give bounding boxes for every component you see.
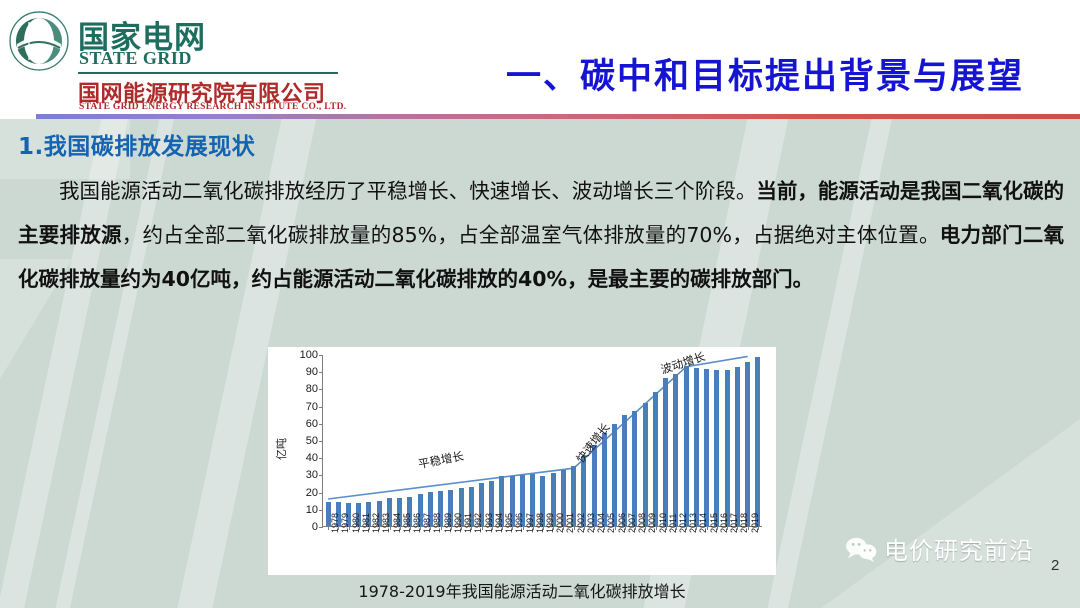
chart-y-tick-mark [319, 389, 323, 390]
chart-bar [632, 411, 637, 526]
paragraph-segment-1: 我国能源活动二氧化碳排放经历了平稳增长、快速增长、波动增长三个阶段。 [59, 179, 756, 203]
chart-y-tick-mark [319, 355, 323, 356]
chart-y-axis-ticks: 0102030405060708090100 [286, 355, 318, 527]
chart-plot-area [322, 355, 762, 527]
background-wedge-3 [820, 419, 1080, 608]
chart-bar [684, 366, 689, 526]
chart-y-tick-mark [319, 372, 323, 373]
chart-y-tick-label: 70 [290, 402, 318, 413]
chart-y-tick-mark [319, 441, 323, 442]
header-divider [36, 114, 1080, 119]
chart-x-tick-label: 2011 [669, 514, 678, 533]
chart-y-tick-mark [319, 493, 323, 494]
chart-x-tick-label: 2004 [597, 513, 606, 533]
chart-x-tick-label: 2017 [730, 513, 739, 533]
chart-y-tick-label: 100 [290, 350, 318, 361]
chart-x-tick-label: 1991 [464, 513, 473, 533]
chart-x-tick-label: 1993 [485, 513, 494, 533]
slide: 国家电网 STATE GRID 国网能源研究院有限公司 STATE GRID E… [0, 0, 1080, 608]
chart-y-tick-label: 30 [290, 470, 318, 481]
chart-x-tick-label: 1999 [546, 513, 555, 533]
slide-body: 1.我国碳排放发展现状 我国能源活动二氧化碳排放经历了平稳增长、快速增长、波动增… [0, 119, 1080, 608]
chart-x-tick-label: 2007 [628, 513, 637, 533]
section-heading: 1.我国碳排放发展现状 [18, 127, 255, 161]
chart-bar [643, 403, 648, 526]
chart-x-tick-label: 2014 [699, 513, 708, 533]
logo-divider [78, 72, 338, 74]
logo-title-en: STATE GRID [79, 48, 192, 69]
chart-y-tick-label: 40 [290, 453, 318, 464]
chart-bar [704, 369, 709, 526]
chart-x-tick-label: 2018 [740, 513, 749, 533]
chart-y-tick-mark [319, 458, 323, 459]
chart-x-tick-label: 1987 [423, 513, 432, 533]
chart-x-tick-label: 1994 [495, 513, 504, 533]
chart-caption: 1978-2019年我国能源活动二氧化碳排放增长 [268, 578, 776, 602]
chart-x-tick-label: 1981 [362, 513, 371, 533]
chart-bar [714, 370, 719, 526]
chart-y-tick-label: 20 [290, 488, 318, 499]
chart-bar [755, 357, 760, 526]
chart-x-tick-label: 2010 [659, 513, 668, 533]
chart-y-tick-label: 50 [290, 436, 318, 447]
chart-x-tick-label: 1990 [454, 513, 463, 533]
chart-bar [735, 367, 740, 526]
page-number: 2 [1051, 557, 1059, 574]
chart-bar [653, 392, 658, 527]
chart-y-tick-mark [319, 424, 323, 425]
chart-x-tick-label: 1980 [352, 513, 361, 533]
chart-x-tick-label: 2012 [679, 513, 688, 533]
state-grid-emblem-icon [8, 10, 70, 72]
chart-x-tick-label: 1988 [433, 513, 442, 533]
chart-x-tick-label: 2015 [710, 513, 719, 533]
chart-x-tick-label: 2016 [720, 513, 729, 533]
chart-x-tick-label: 2006 [618, 513, 627, 533]
chart-y-tick-label: 60 [290, 419, 318, 430]
wechat-icon [845, 536, 877, 562]
chart-x-tick-label: 2013 [689, 513, 698, 533]
chart-bar [725, 370, 730, 526]
chart-bar [694, 368, 699, 526]
chart-x-tick-label: 2005 [607, 513, 616, 533]
chart-y-tick-label: 0 [290, 522, 318, 533]
chart-y-tick-mark [319, 510, 323, 511]
logo-subtitle-en: STATE GRID ENERGY RESEARCH INSTITUTE CO.… [79, 102, 346, 112]
chart-x-tick-label: 1984 [393, 513, 402, 533]
chart-bar [622, 415, 627, 526]
chart-y-tick-mark [319, 407, 323, 408]
chart-bar [673, 374, 678, 526]
chart-bar [663, 378, 668, 526]
chart-y-tick-mark [319, 527, 323, 528]
chart-x-tick-label: 1985 [403, 513, 412, 533]
watermark-text: 电价研究前沿 [884, 531, 1034, 566]
chart-x-tick-label: 1996 [515, 513, 524, 533]
chart-x-tick-label: 1979 [341, 513, 350, 533]
emissions-chart: 亿吨 0102030405060708090100 19781979198019… [268, 347, 776, 575]
chart-y-tick-label: 80 [290, 384, 318, 395]
chart-x-tick-label: 2009 [648, 513, 657, 533]
watermark: 电价研究前沿 [845, 531, 1034, 566]
chart-x-tick-label: 2008 [638, 513, 647, 533]
chart-x-tick-mark [328, 526, 329, 530]
page-title: 一、碳中和目标提出背景与展望 [455, 48, 1075, 99]
chart-bar [612, 424, 617, 527]
chart-x-tick-label: 1997 [526, 513, 535, 533]
chart-x-tick-label: 2003 [587, 513, 596, 533]
chart-y-tick-mark [319, 475, 323, 476]
chart-x-tick-label: 1986 [413, 513, 422, 533]
chart-x-tick-label: 2019 [751, 513, 760, 533]
body-paragraph: 我国能源活动二氧化碳排放经历了平稳增长、快速增长、波动增长三个阶段。当前，能源活… [18, 169, 1064, 301]
state-grid-logo: 国家电网 STATE GRID 国网能源研究院有限公司 STATE GRID E… [6, 6, 426, 110]
chart-x-tick-label: 1978 [331, 513, 340, 533]
chart-x-tick-label: 2001 [566, 513, 575, 533]
slide-header: 国家电网 STATE GRID 国网能源研究院有限公司 STATE GRID E… [0, 0, 1080, 116]
chart-y-tick-label: 90 [290, 367, 318, 378]
chart-x-tick-label: 2000 [556, 513, 565, 533]
chart-x-tick-label: 1982 [372, 513, 381, 533]
chart-x-tick-label: 1989 [444, 513, 453, 533]
paragraph-segment-3: ，约占全部二氧化碳排放量的85%，占全部温室气体排放量的70%，占据绝对主体位置… [122, 223, 940, 247]
chart-x-tick-label: 2002 [577, 513, 586, 533]
chart-x-tick-label: 1995 [505, 513, 514, 533]
chart-x-tick-label: 1992 [474, 513, 483, 533]
chart-x-tick-label: 1998 [536, 513, 545, 533]
chart-y-tick-label: 10 [290, 505, 318, 516]
chart-bar [745, 362, 750, 526]
chart-x-tick-label: 1983 [382, 513, 391, 533]
